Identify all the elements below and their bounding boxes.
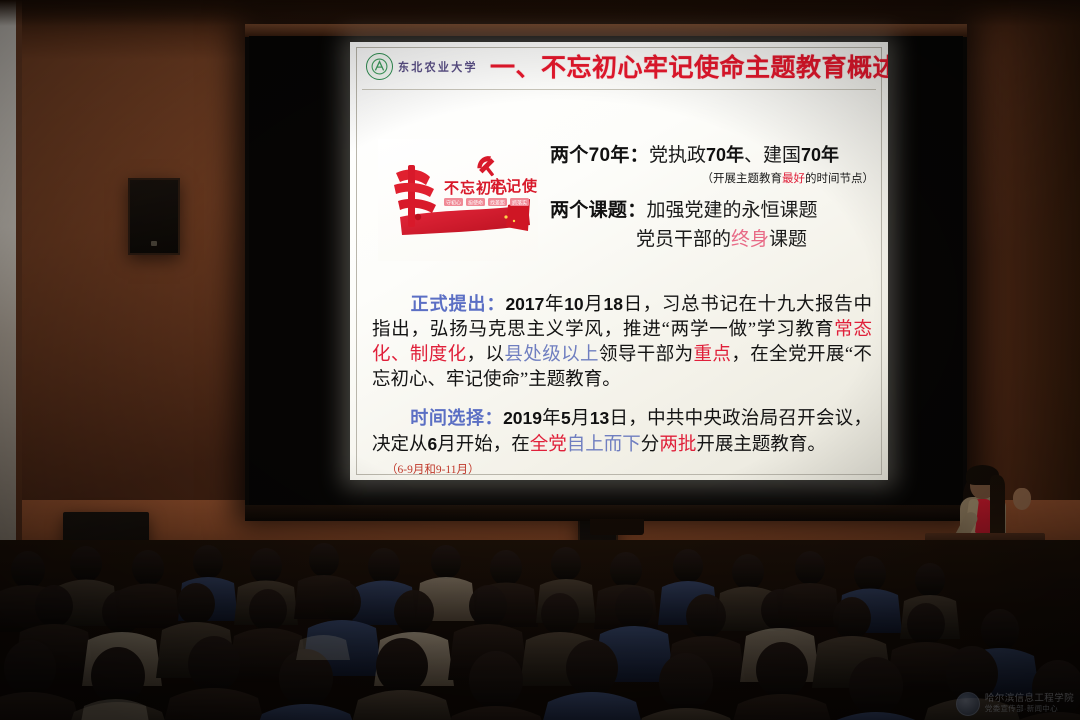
topic-line1-highlight: 永恒 (742, 195, 780, 222)
topic-line2: 党员干部的终身课题 (550, 224, 880, 251)
note-open: （开展主题教育 (702, 173, 783, 185)
para2-highlight-two-batches: 两批 (659, 435, 696, 455)
svg-text:守初心: 守初心 (446, 199, 461, 206)
point-label: 两个70年： (550, 140, 649, 167)
para2-lead: 时间选择： (410, 408, 503, 428)
seg-party-rule: 党执政 (649, 140, 706, 167)
para1-t7: ，以 (467, 345, 505, 365)
para2-t10: 开展主题教育。 (696, 435, 826, 455)
note-highlight: 最好 (782, 173, 805, 185)
para2-t2: 年 (542, 409, 561, 429)
paragraph-formal-proposal: 正式提出：2017年10月18日，习总书记在十九大报告中指出，弘扬马克思主义学风… (372, 292, 872, 393)
topic-line2-a: 党员干部的 (636, 229, 731, 250)
para2-t8: 月开始，在 (437, 435, 530, 455)
para2-day: 13 (590, 408, 609, 428)
para1-highlight-focus: 重点 (694, 345, 732, 365)
watermark-line2: 党委宣传部·新闻中心 (985, 705, 1074, 714)
note-close: 的时间节点） (805, 173, 874, 185)
point-two-topics: 两个课题： 加强党建的 永恒 课题 (550, 195, 880, 222)
topic-line1-b: 课题 (780, 195, 818, 222)
university-seal-icon (366, 53, 393, 80)
wall-speaker-left-icon (128, 178, 180, 255)
left-wall-edge (16, 0, 22, 540)
school-badge-icon (956, 692, 980, 716)
svg-text:抓落实: 抓落实 (512, 199, 527, 206)
university-name-label: 东北农业大学 (398, 58, 478, 75)
svg-text:担使命: 担使命 (468, 199, 483, 206)
para1-lead: 正式提出： (410, 294, 505, 314)
party-theme-emblem-icon: 不忘初心 牢记使命 守初心 担使命 找差距 抓落实 (378, 139, 538, 261)
slide-title: 一、不忘初心牢记使命主题教育概述 (490, 48, 882, 84)
para2-highlight-top-down: 自上而下 (567, 435, 641, 455)
para2-year: 2019 (503, 408, 542, 428)
para2-t9: 分 (641, 435, 660, 455)
para1-t8: 领导干部为 (599, 345, 694, 365)
ceiling-shadow (0, 0, 1080, 26)
para1-year: 2017 (505, 294, 544, 314)
para2-highlight-whole-party: 全党 (530, 435, 567, 455)
audience-silhouettes (0, 540, 1080, 720)
para1-t4: 月 (584, 295, 604, 315)
para2-t4: 月 (571, 409, 590, 429)
presentation-slide: 东北农业大学 一、不忘初心牢记使命主题教育概述 (350, 42, 888, 480)
para2-sub-note: （6-9月和9-11月） (372, 458, 872, 480)
watermark-text: 哈尔滨信息工程学院 党委宣传部·新闻中心 (985, 694, 1074, 714)
seg-70-years-b: 70年 (801, 141, 839, 167)
para2-start-month: 6 (428, 434, 438, 454)
projection-screen-mount (590, 519, 644, 535)
slide-header: 东北农业大学 一、不忘初心牢记使命主题教育概述 (350, 42, 888, 90)
paragraph-timing-choice: 时间选择：2019年5月13日，中共中央政治局召开会议，决定从6月开始，在全党自… (372, 406, 872, 480)
para1-day: 18 (603, 294, 622, 314)
topic-line2-b: 课题 (769, 229, 807, 250)
seg-founding: 建国 (763, 140, 801, 167)
watermark: 哈尔滨信息工程学院 党委宣传部·新闻中心 (956, 692, 1074, 716)
topic-line1-a: 加强党建的 (647, 195, 742, 222)
presenter-face (1013, 488, 1031, 510)
topics-label: 两个课题： (550, 195, 647, 222)
svg-text:找差距: 找差距 (490, 199, 505, 206)
student-audience (0, 540, 1080, 720)
para1-month: 10 (564, 294, 583, 314)
point-two-70-years: 两个70年： 党执政 70年 、 建国 70年 (550, 140, 880, 167)
topic-line2-highlight: 终身 (731, 229, 769, 250)
auditorium-photo-scene: 东北农业大学 一、不忘初心牢记使命主题教育概述 (0, 0, 1080, 720)
svg-text:牢记使命: 牢记使命 (490, 177, 538, 195)
para1-highlight-county-level: 县处级以上 (504, 345, 599, 365)
para2-month: 5 (561, 408, 571, 428)
seg-separator: 、 (744, 140, 763, 167)
university-logo: 东北农业大学 (366, 53, 478, 80)
para1-t2: 年 (544, 295, 564, 315)
seg-70-years-a: 70年 (706, 141, 744, 167)
title-divider (362, 89, 876, 90)
key-points-block: 两个70年： 党执政 70年 、 建国 70年 （开展主题教育最好的时间节点） … (550, 140, 880, 251)
point-note: （开展主题教育最好的时间节点） (550, 170, 880, 186)
left-wall-panel (0, 0, 16, 540)
